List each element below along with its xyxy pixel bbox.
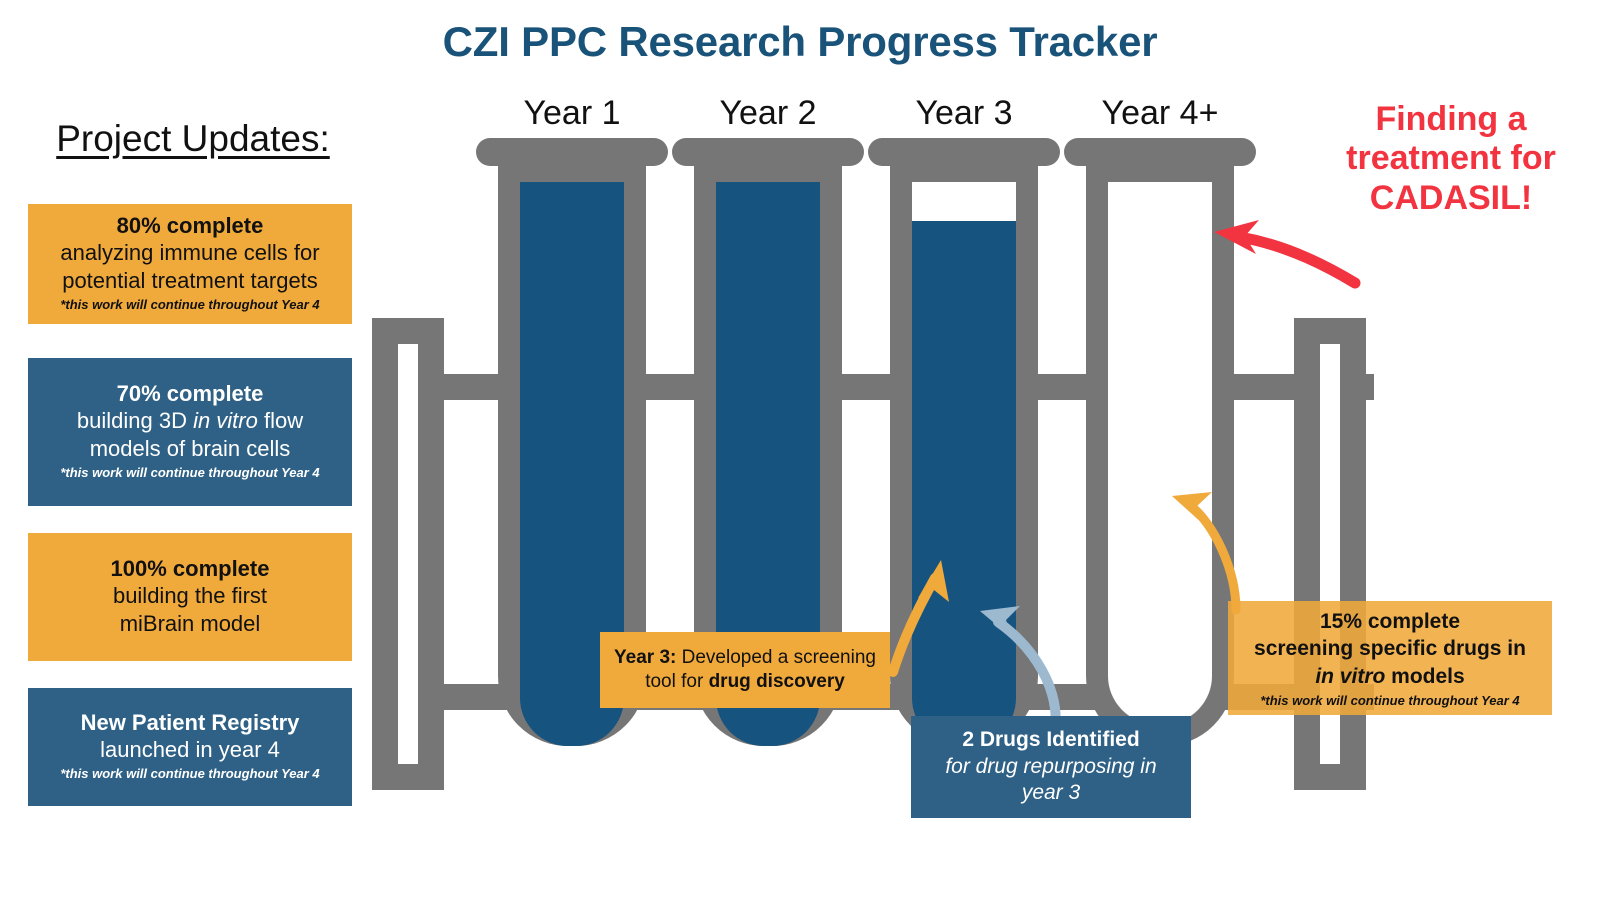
update-body-line1: analyzing immune cells for (36, 239, 344, 266)
project-updates-heading: Project Updates: (28, 118, 358, 160)
goal-line3: CADASIL! (1308, 179, 1594, 218)
update-body-line1: building 3D in vitro flow (36, 407, 344, 434)
callout-year3-screening-tool: Year 3: Developed a screening tool for d… (600, 632, 890, 708)
callout-sub-line2: year 3 (921, 780, 1181, 806)
tube-label: Year 4+ (1064, 94, 1256, 133)
callout-15-percent-screening: 15% complete screening specific drugs in… (1228, 601, 1552, 715)
callout-line3-italic: in vitro (1315, 665, 1385, 688)
tube-label: Year 2 (672, 94, 864, 133)
update-headline: 80% complete (36, 212, 344, 239)
update-body-line1: launched in year 4 (36, 736, 344, 763)
tube-glass (1086, 160, 1234, 746)
tube-label: Year 1 (476, 94, 668, 133)
goal-line1: Finding a (1308, 100, 1594, 139)
update-body-line2: miBrain model (36, 610, 344, 637)
update-headline: New Patient Registry (36, 709, 344, 736)
goal-line2: treatment for (1308, 139, 1594, 178)
callout-lead: Year 3: (614, 647, 676, 668)
red-arrow (1214, 220, 1355, 283)
callout-line3: in vitro models (1236, 663, 1544, 690)
update-headline: 100% complete (36, 555, 344, 582)
callout-sub-line1: for drug repurposing in (921, 754, 1181, 780)
tube-label: Year 3 (868, 94, 1060, 133)
callout-2-drugs-identified: 2 Drugs Identified for drug repurposing … (911, 716, 1191, 818)
callout-headline: 2 Drugs Identified (921, 727, 1181, 753)
callout-text-a: Developed a screening (676, 647, 876, 668)
update-body-line2: potential treatment targets (36, 267, 344, 294)
update-headline: 70% complete (36, 380, 344, 407)
callout-footnote: *this work will continue throughout Year… (1236, 693, 1544, 708)
update-card-0: 80% complete analyzing immune cells for … (28, 204, 352, 324)
update-body-line1: building the first (36, 582, 344, 609)
update-body-line2: models of brain cells (36, 435, 344, 462)
callout-line1: Year 3: Developed a screening (610, 646, 880, 670)
update-footnote: *this work will continue throughout Year… (36, 766, 344, 783)
update-card-1: 70% complete building 3D in vitro flow m… (28, 358, 352, 506)
callout-line2: screening specific drugs in (1236, 635, 1544, 662)
update-footnote: *this work will continue throughout Year… (36, 297, 344, 314)
goal-statement: Finding a treatment for CADASIL! (1308, 100, 1594, 218)
infographic-canvas: CZI PPC Research Progress Tracker Projec… (0, 0, 1600, 900)
callout-text-b: tool for (645, 671, 708, 692)
rack-leg-right (1294, 318, 1366, 790)
tube-fill (912, 221, 1016, 746)
callout-line3-rest: models (1385, 665, 1464, 688)
callout-headline: 15% complete (1236, 608, 1544, 635)
update-card-3: New Patient Registry launched in year 4 … (28, 688, 352, 806)
update-footnote: *this work will continue throughout Year… (36, 465, 344, 482)
callout-bold-b: drug discovery (709, 671, 845, 692)
callout-line2: tool for drug discovery (610, 670, 880, 694)
update-card-2: 100% complete building the first miBrain… (28, 533, 352, 661)
rack-leg-left (372, 318, 444, 790)
page-title: CZI PPC Research Progress Tracker (0, 18, 1600, 66)
